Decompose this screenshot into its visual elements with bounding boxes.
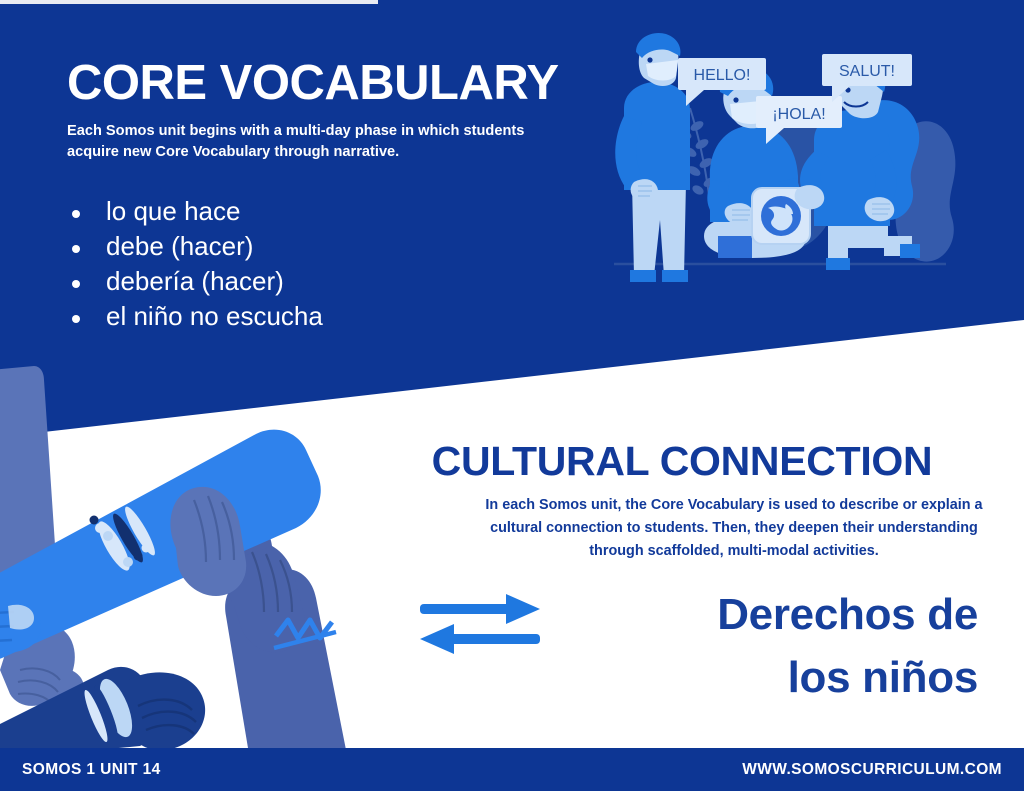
list-item: lo que hace bbox=[67, 194, 587, 229]
list-item: debe (hacer) bbox=[67, 229, 587, 264]
top-hairline-strip bbox=[0, 0, 378, 4]
speech-bubble-hello-label: HELLO! bbox=[694, 67, 751, 84]
cultural-connection-description: In each Somos unit, the Core Vocabulary … bbox=[476, 494, 992, 562]
speech-bubble-hola-label: ¡HOLA! bbox=[772, 106, 825, 123]
core-vocabulary-section: CORE VOCABULARY Each Somos unit begins w… bbox=[67, 58, 587, 334]
footer-bar: SOMOS 1 UNIT 14 WWW.SOMOSCURRICULUM.COM bbox=[0, 748, 1024, 791]
core-vocabulary-title: CORE VOCABULARY bbox=[67, 58, 587, 109]
list-item: el niño no escucha bbox=[67, 299, 587, 334]
list-item: debería (hacer) bbox=[67, 264, 587, 299]
footer-unit-label: SOMOS 1 UNIT 14 bbox=[22, 761, 161, 779]
person-center bbox=[704, 66, 810, 258]
people-illustration: HELLO! ¡HOLA! SALUT! bbox=[600, 30, 1024, 330]
cultural-connection-title: CULTURAL CONNECTION bbox=[372, 440, 992, 483]
core-vocabulary-list: lo que hace debe (hacer) debería (hacer)… bbox=[67, 194, 587, 333]
hands-illustration bbox=[0, 340, 408, 760]
speech-bubble-salut-label: SALUT! bbox=[839, 63, 895, 80]
core-vocabulary-description: Each Somos unit begins with a multi-day … bbox=[67, 121, 537, 162]
infographic-poster: HELLO! ¡HOLA! SALUT! CORE VOCABULARY Eac… bbox=[0, 0, 1024, 791]
cultural-connection-section: CULTURAL CONNECTION In each Somos unit, … bbox=[372, 440, 992, 709]
two-way-arrows-icon bbox=[418, 590, 542, 658]
footer-website-label: WWW.SOMOSCURRICULUM.COM bbox=[742, 761, 1002, 779]
